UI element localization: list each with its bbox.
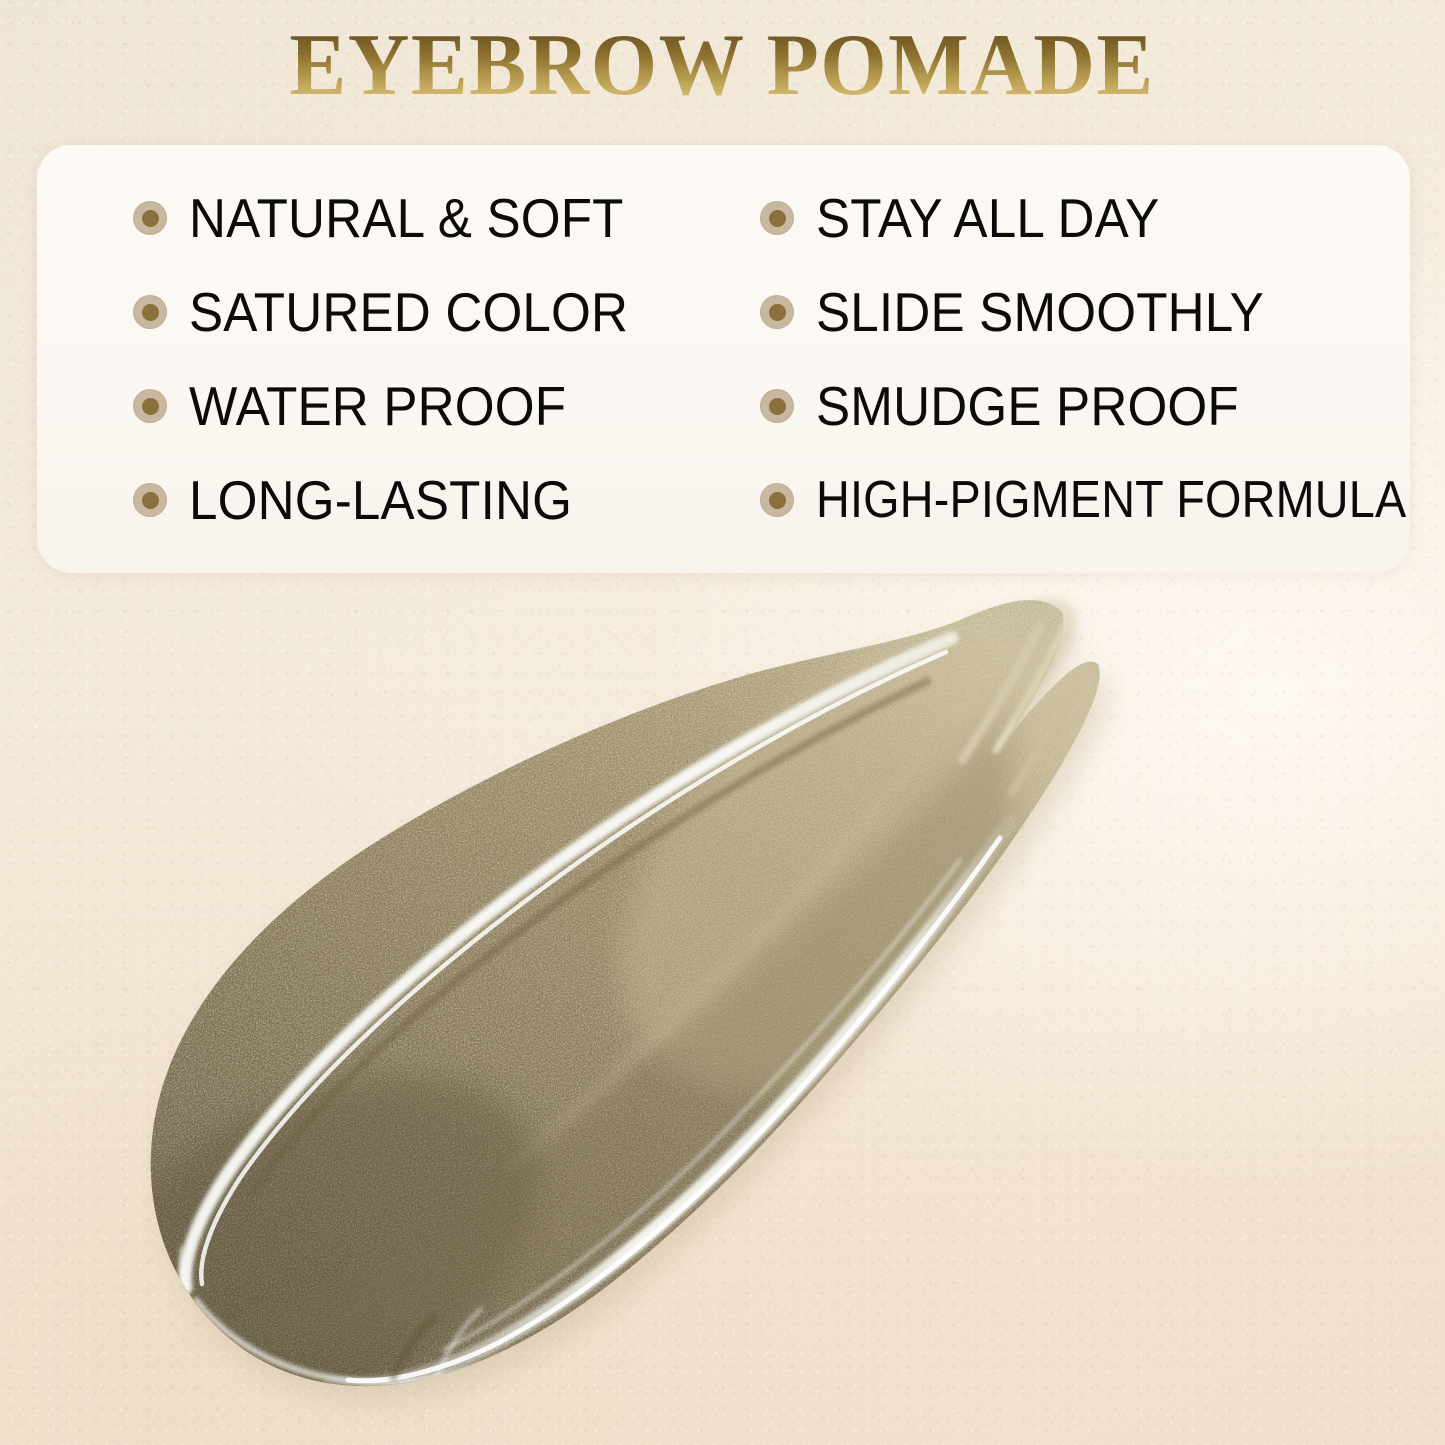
page-title: EYEBROW POMADE [290,18,1155,113]
feature-grid: NATURAL & SOFT STAY ALL DAY SATURED COLO… [37,145,1410,573]
feature-item-satured-color: SATURED COLOR [37,265,692,359]
bullet-dot-icon [133,389,167,423]
bullet-dot-icon [133,483,167,517]
feature-label: LONG-LASTING [189,473,572,528]
feature-label: SLIDE SMOOTHLY [816,285,1264,340]
feature-label: SATURED COLOR [189,285,628,340]
feature-label: STAY ALL DAY [816,191,1159,246]
swatch-shimmer [0,560,1445,1445]
pomade-product-smear [0,560,1445,1445]
bullet-dot-icon [760,389,794,423]
feature-label: WATER PROOF [189,379,566,434]
feature-item-long-lasting: LONG-LASTING [37,453,692,547]
feature-item-stay-all-day: STAY ALL DAY [692,171,1410,265]
feature-item-water-proof: WATER PROOF [37,359,692,453]
feature-label: SMUDGE PROOF [816,379,1239,434]
bullet-dot-icon [133,201,167,235]
feature-label: NATURAL & SOFT [189,191,624,246]
feature-label: HIGH-PIGMENT FORMULA [816,474,1406,526]
feature-item-natural-and-soft: NATURAL & SOFT [37,171,692,265]
title-container: EYEBROW POMADE [0,18,1445,113]
feature-panel: NATURAL & SOFT STAY ALL DAY SATURED COLO… [37,145,1410,573]
bullet-dot-icon [760,483,794,517]
feature-item-slide-smoothly: SLIDE SMOOTHLY [692,265,1410,359]
bullet-dot-icon [760,295,794,329]
feature-item-high-pigment-formula: HIGH-PIGMENT FORMULA [692,453,1410,547]
bullet-dot-icon [760,201,794,235]
feature-item-smudge-proof: SMUDGE PROOF [692,359,1410,453]
product-feature-graphic: EYEBROW POMADE NATURAL & SOFT STAY ALL D… [0,0,1445,1445]
swatch-illustration [0,560,1445,1445]
bullet-dot-icon [133,295,167,329]
